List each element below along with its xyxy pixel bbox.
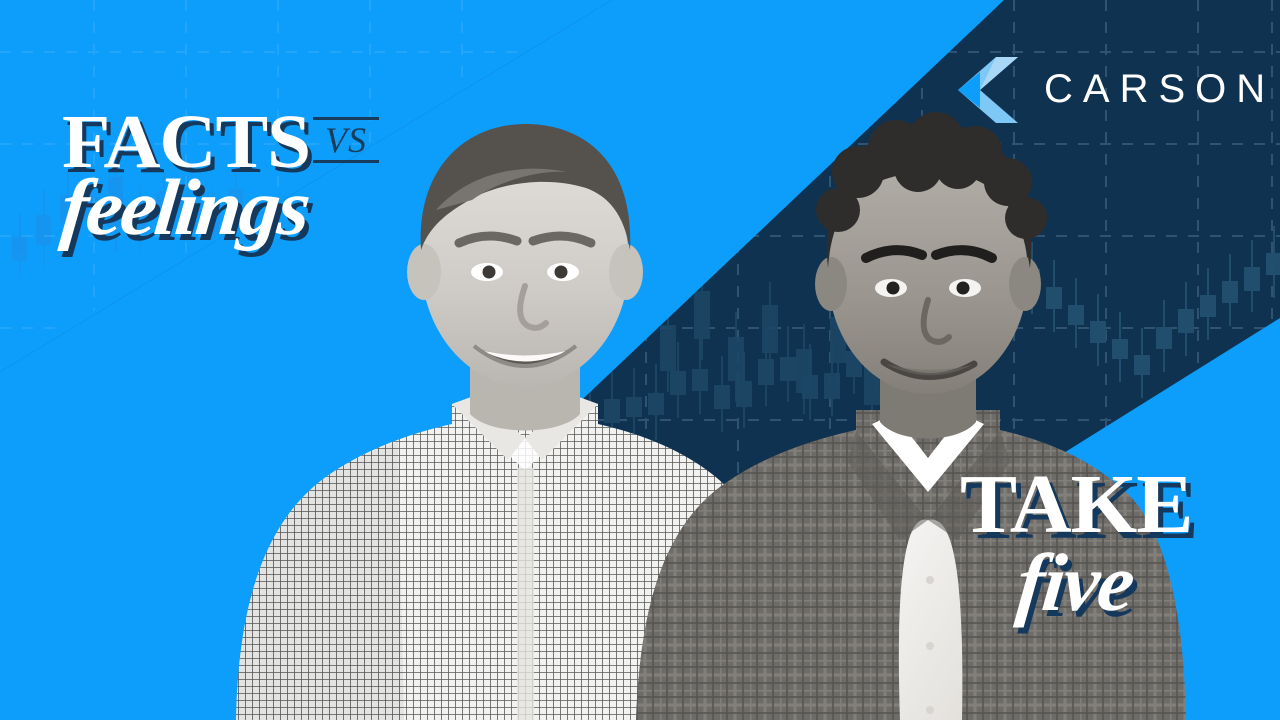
episode-thumbnail: CARSON FACTS VS feelings TAKE five [0, 0, 1280, 720]
facts-vs-feelings-logo: FACTS VS feelings [62, 104, 422, 264]
versus-label: VS [313, 120, 379, 160]
take-wordmark: TAKE [960, 462, 1192, 548]
carson-chevron-mark [958, 57, 1018, 123]
carson-wordmark: CARSON [1044, 69, 1275, 109]
five-wordmark: five [1013, 540, 1137, 626]
versus-badge: VS [313, 117, 379, 163]
carson-logo[interactable]: CARSON [958, 57, 1275, 123]
versus-rule-bottom [313, 160, 379, 163]
feelings-wordmark: feelings [57, 166, 312, 250]
take-five-logo: TAKE five [952, 462, 1252, 632]
